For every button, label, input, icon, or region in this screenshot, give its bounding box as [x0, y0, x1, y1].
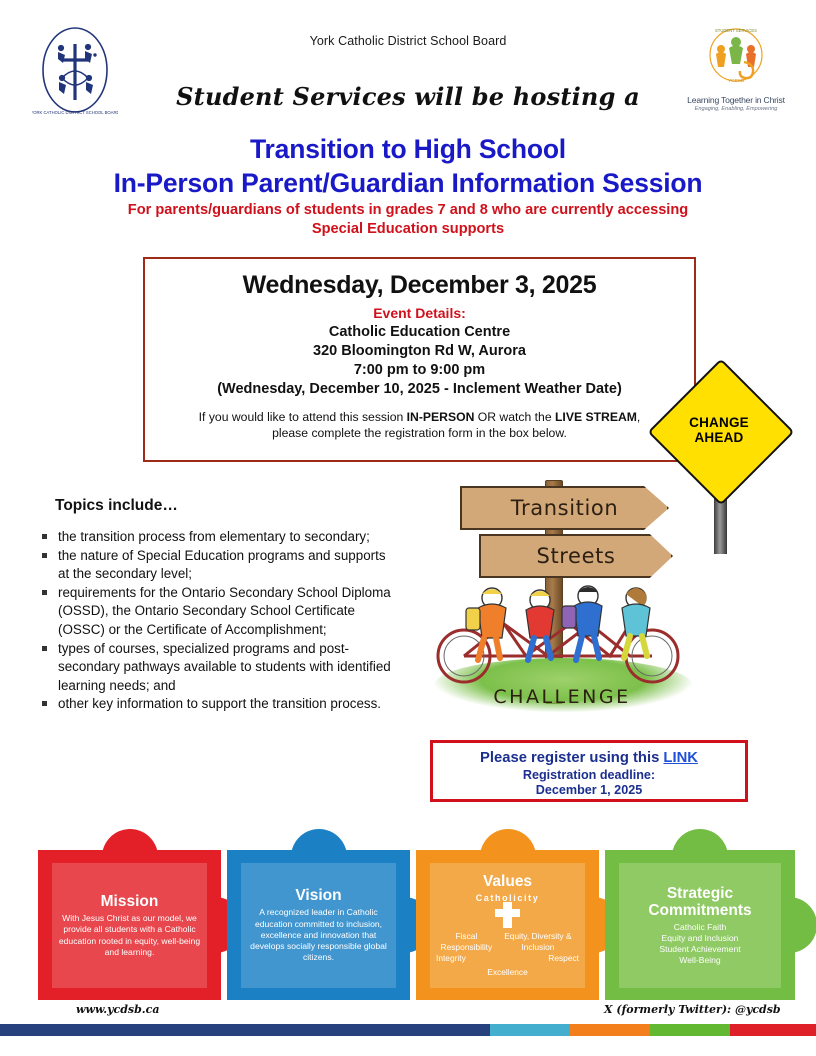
illustration-caption: CHALLENGE [424, 686, 700, 708]
puzzle-title: Mission [101, 893, 159, 910]
topics-heading: Topics include… [55, 497, 178, 515]
puzzle-piece-mission: Mission With Jesus Christ as our model, … [38, 850, 221, 1000]
bar-segment-green [650, 1024, 730, 1036]
values-row-1: Fiscal Responsibility Equity, Diversity … [436, 931, 579, 952]
bar-segment-navy [0, 1024, 490, 1036]
puzzle-inner: Strategic Commitments Catholic Faith Equ… [619, 863, 781, 988]
attendance-note: If you would like to attend this session… [145, 409, 694, 441]
puzzle-title: Vision [295, 887, 341, 904]
list-item: other key information to support the tra… [30, 695, 400, 714]
register-prefix: Please register using this [480, 750, 663, 766]
puzzle-body-text: A recognized leader in Catholic educatio… [247, 907, 390, 963]
deadline-label: Registration deadline: [433, 768, 745, 783]
topic-text: other key information to support the tra… [58, 696, 381, 711]
hosting-line: Student Services will be hosting a [0, 82, 816, 111]
bar-segment-red [730, 1024, 816, 1036]
event-address: 320 Bloomington Rd W, Aurora [145, 343, 694, 359]
event-venue: Catholic Education Centre [145, 324, 694, 340]
sign-text-line2: AHEAD [694, 430, 743, 445]
puzzle-piece-vision: Vision A recognized leader in Catholic e… [227, 850, 410, 1000]
puzzle-graphic: Mission With Jesus Christ as our model, … [38, 828, 780, 1000]
value-respect: Respect [548, 953, 579, 963]
transition-streets-illustration: Transition Streets [424, 462, 700, 727]
bar-segment-teal [490, 1024, 570, 1036]
note-part-3: , [637, 410, 640, 424]
list-item: requirements for the Ontario Secondary S… [30, 584, 400, 640]
event-details-label: Event Details: [145, 305, 694, 321]
topic-text: requirements for the Ontario Secondary S… [58, 585, 391, 637]
note-part-1: If you would like to attend this session [199, 410, 407, 424]
puzzle-piece-values: Values Catholicity Fiscal Responsibility… [416, 850, 599, 1000]
puzzle-body-text: Catholic Faith Equity and Inclusion Stud… [659, 922, 740, 967]
puzzle-inner: Values Catholicity Fiscal Responsibility… [430, 863, 585, 988]
deadline-date: December 1, 2025 [433, 783, 745, 798]
puzzle-body-text: With Jesus Christ as our model, we provi… [58, 913, 201, 958]
register-line: Please register using this LINK [433, 750, 745, 766]
event-date: Wednesday, December 3, 2025 [145, 271, 694, 300]
puzzle-piece-strategic-commitments: Strategic Commitments Catholic Faith Equ… [605, 850, 795, 1000]
tandem-bike-riders-icon [430, 580, 692, 690]
page-title-line1: Transition to High School [0, 134, 816, 165]
footer-social-handle[interactable]: X (formerly Twitter): @ycdsb [604, 1003, 781, 1016]
footer-website[interactable]: www.ycdsb.ca [76, 1003, 159, 1016]
bar-segment-orange [570, 1024, 650, 1036]
value-equity-diversity-inclusion: Equity, Diversity & Inclusion [497, 931, 579, 952]
topic-text: the transition process from elementary t… [58, 529, 370, 544]
event-alternate-date: (Wednesday, December 10, 2025 - Inclemen… [145, 381, 694, 397]
bullet-icon [42, 646, 47, 651]
list-item: types of courses, specialized programs a… [30, 640, 400, 696]
page-title-line2: In-Person Parent/Guardian Information Se… [0, 168, 816, 199]
list-item: the nature of Special Education programs… [30, 547, 400, 584]
bullet-icon [42, 553, 47, 558]
bullet-icon [42, 701, 47, 706]
event-time: 7:00 pm to 9:00 pm [145, 362, 694, 378]
bullet-icon [42, 590, 47, 595]
topic-text: types of courses, specialized programs a… [58, 641, 391, 693]
values-grid: Fiscal Responsibility Equity, Diversity … [436, 930, 579, 978]
topics-list: the transition process from elementary t… [30, 528, 400, 714]
value-excellence: Excellence [436, 967, 579, 977]
topic-text: the nature of Special Education programs… [58, 548, 386, 582]
registration-box[interactable]: Please register using this LINK Registra… [430, 740, 748, 802]
value-integrity: Integrity [436, 953, 466, 963]
puzzle-inner: Vision A recognized leader in Catholic e… [241, 863, 396, 988]
values-row-2: Integrity Respect [436, 953, 579, 963]
sign-text-line1: CHANGE [689, 415, 749, 430]
list-item: the transition process from elementary t… [30, 528, 400, 547]
sign-plank-transition: Transition [460, 486, 669, 530]
svg-text:STUDENT SERVICES: STUDENT SERVICES [715, 28, 757, 33]
cross-icon [503, 902, 512, 928]
note-livestream: LIVE STREAM [555, 410, 637, 424]
note-line-2: please complete the registration form in… [161, 425, 678, 441]
registration-deadline: Registration deadline: December 1, 2025 [433, 768, 745, 798]
footer-color-bar [0, 1024, 816, 1036]
puzzle-inner: Mission With Jesus Christ as our model, … [52, 863, 207, 988]
value-fiscal-responsibility: Fiscal Responsibility [436, 931, 497, 952]
puzzle-title: Values [483, 873, 532, 890]
bullet-icon [42, 534, 47, 539]
event-details-box: Wednesday, December 3, 2025 Event Detail… [143, 257, 696, 462]
note-part-2: OR watch the [474, 410, 555, 424]
audience-subtitle: For parents/guardians of students in gra… [120, 201, 696, 239]
sign-plank-streets: Streets [479, 534, 673, 578]
note-inperson: IN-PERSON [407, 410, 475, 424]
flyer-page: YORK CATHOLIC DISTRICT SCHOOL BOARD York… [0, 0, 816, 1056]
registration-link[interactable]: LINK [663, 750, 698, 766]
puzzle-title: Strategic Commitments [625, 885, 775, 919]
